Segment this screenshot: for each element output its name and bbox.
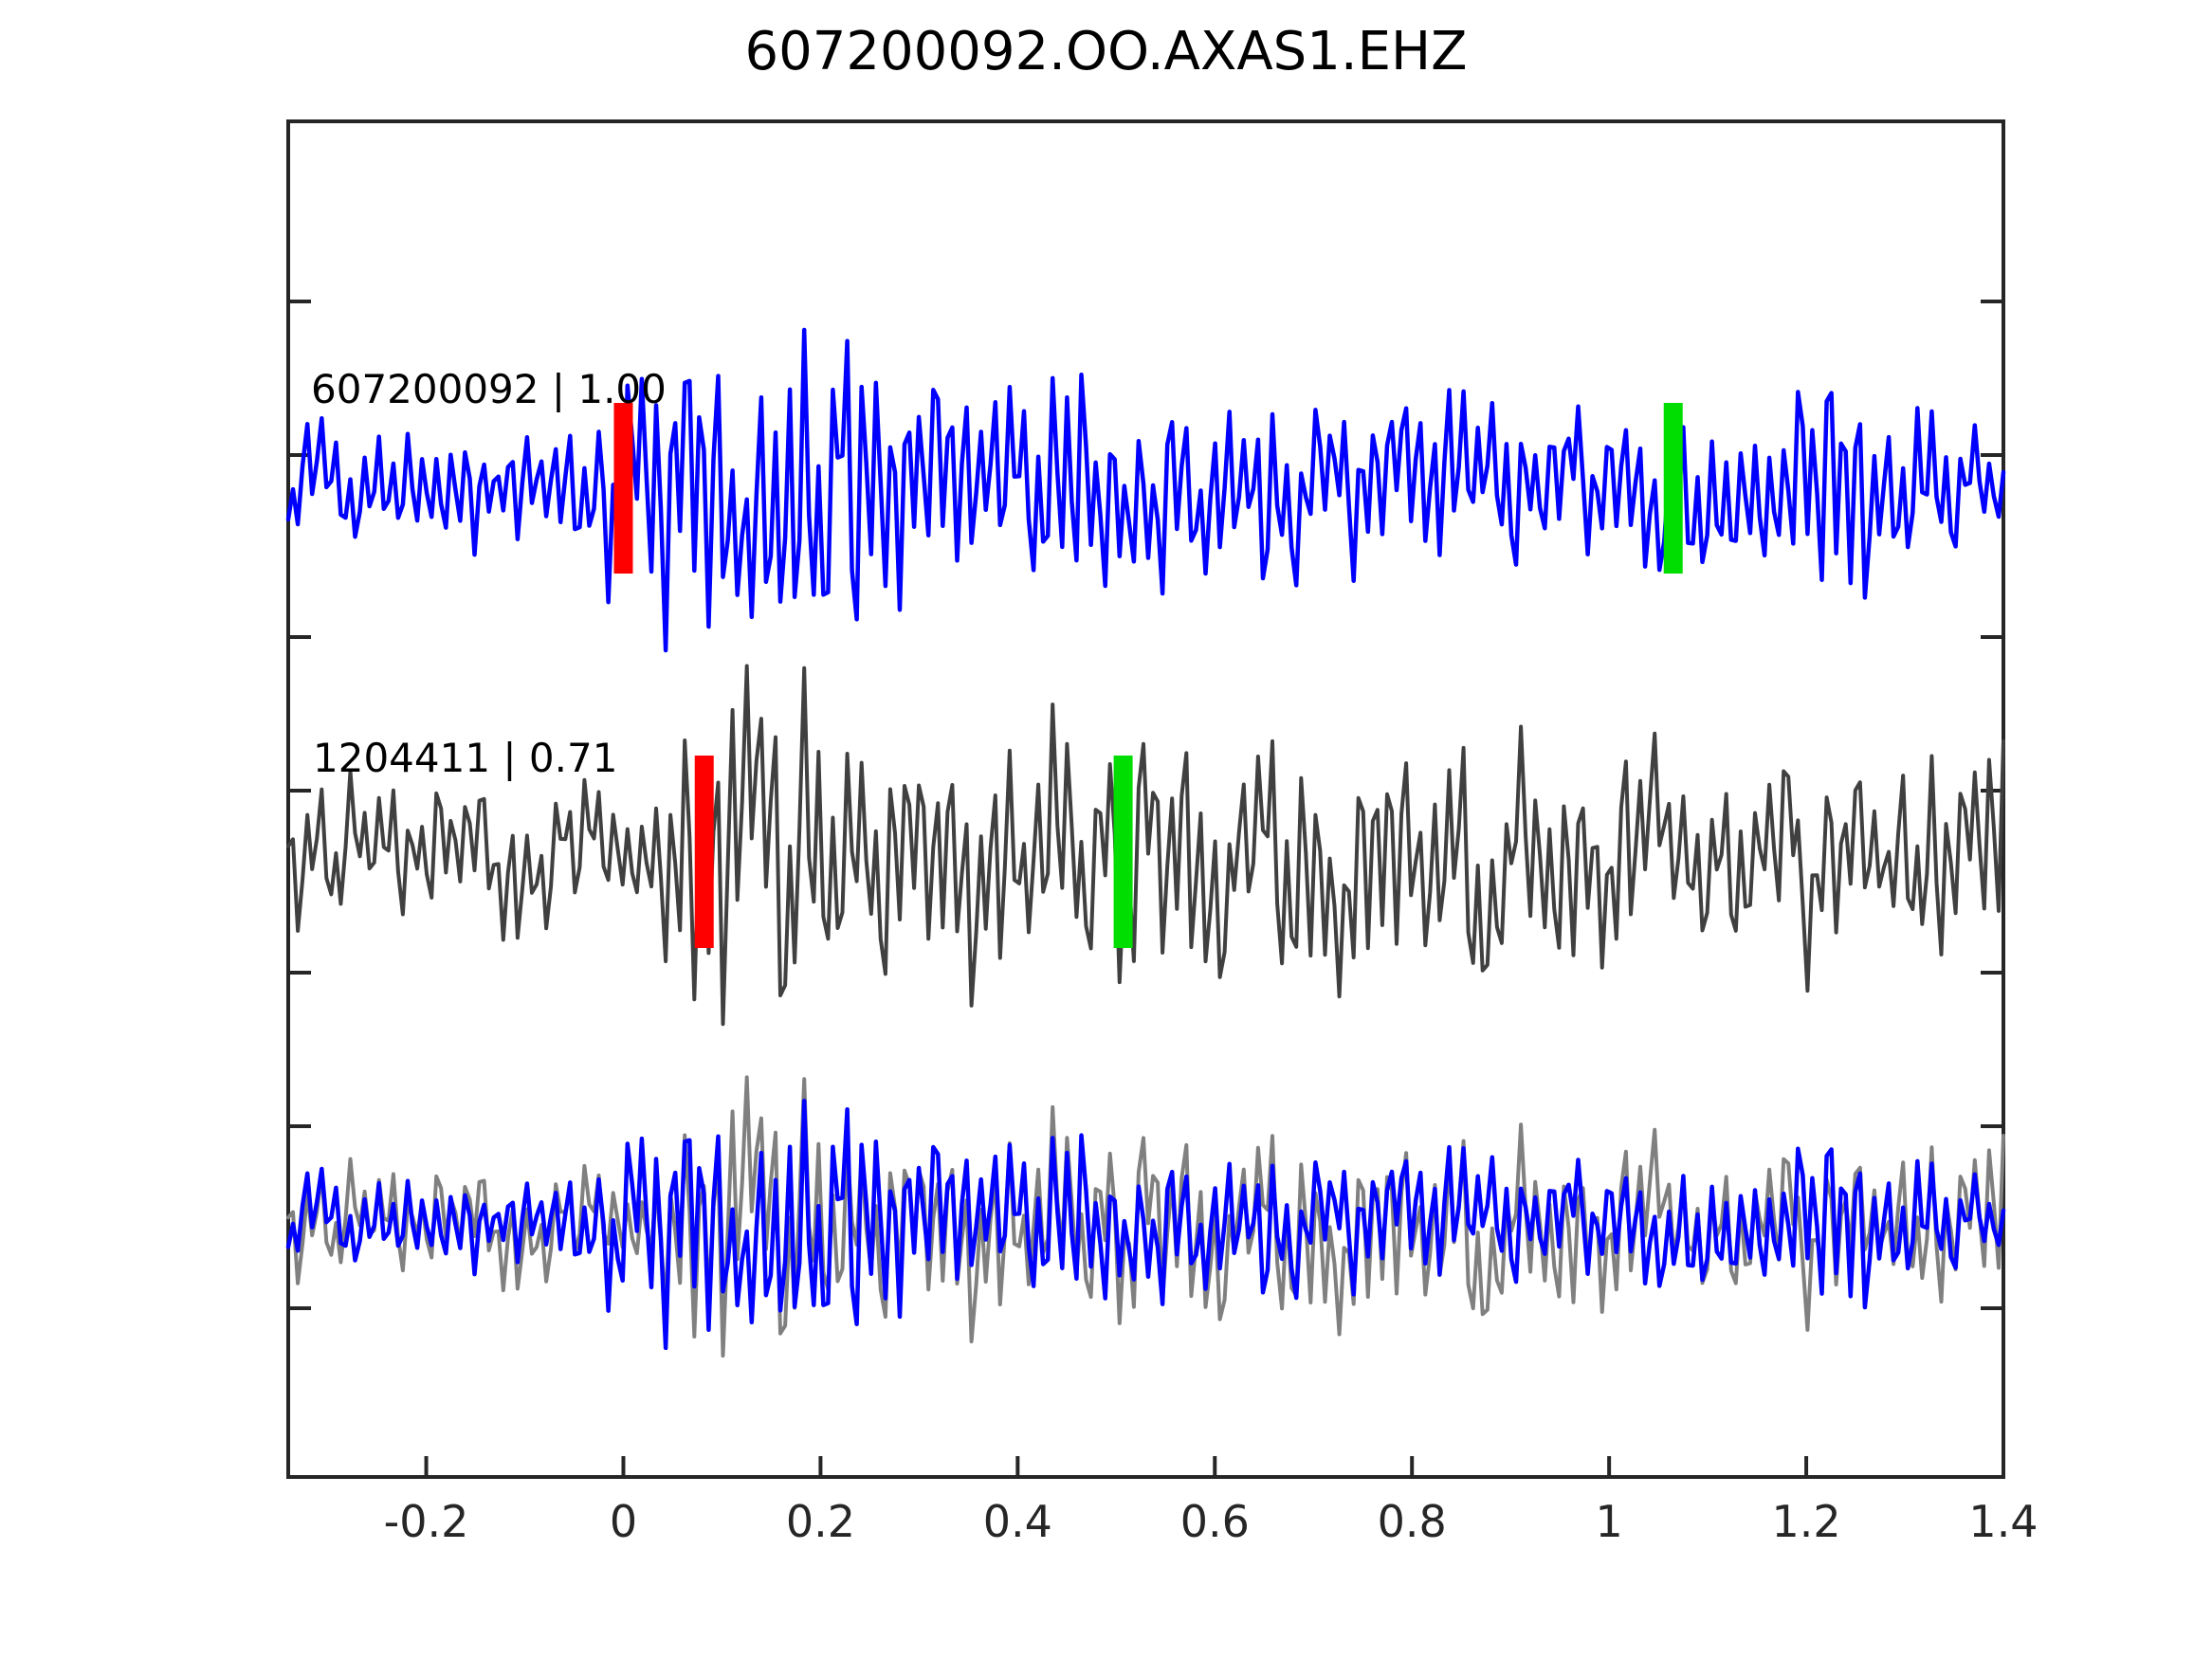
trace-label-match: 1204411 | 0.71 bbox=[313, 735, 617, 781]
x-tick-label: 1 bbox=[1595, 1496, 1622, 1547]
waveform-overlay-match-trace bbox=[288, 1077, 2003, 1356]
pick-marker-s-pick bbox=[1664, 403, 1683, 574]
waveform-overlay-template-trace bbox=[288, 1101, 2003, 1348]
x-tick-label: 0.6 bbox=[1180, 1496, 1250, 1547]
x-tick-label: 0.8 bbox=[1378, 1496, 1447, 1547]
pick-marker-s-pick bbox=[1114, 756, 1133, 948]
waveform-match-trace bbox=[288, 666, 2003, 1025]
x-tick-label: 0.2 bbox=[786, 1496, 855, 1547]
pick-marker-p-pick bbox=[695, 756, 714, 948]
x-axis-ticks bbox=[427, 1456, 2003, 1477]
x-tick-label: -0.2 bbox=[384, 1496, 469, 1547]
x-tick-label: 0 bbox=[610, 1496, 637, 1547]
x-tick-label: 1.2 bbox=[1771, 1496, 1840, 1547]
waveform-path bbox=[288, 1101, 2003, 1348]
plot-axes bbox=[0, 0, 2212, 1659]
x-tick-label: 1.4 bbox=[1968, 1496, 2038, 1547]
x-tick-label: 0.4 bbox=[983, 1496, 1052, 1547]
waveform-path bbox=[288, 666, 2003, 1025]
figure-canvas: 607200092.OO.AXAS1.EHZ 607200092 | 1.00 … bbox=[0, 0, 2212, 1659]
trace-label-template: 607200092 | 1.00 bbox=[311, 366, 667, 412]
pick-marker-p-pick bbox=[613, 403, 632, 574]
waveform-path bbox=[288, 1077, 2003, 1356]
